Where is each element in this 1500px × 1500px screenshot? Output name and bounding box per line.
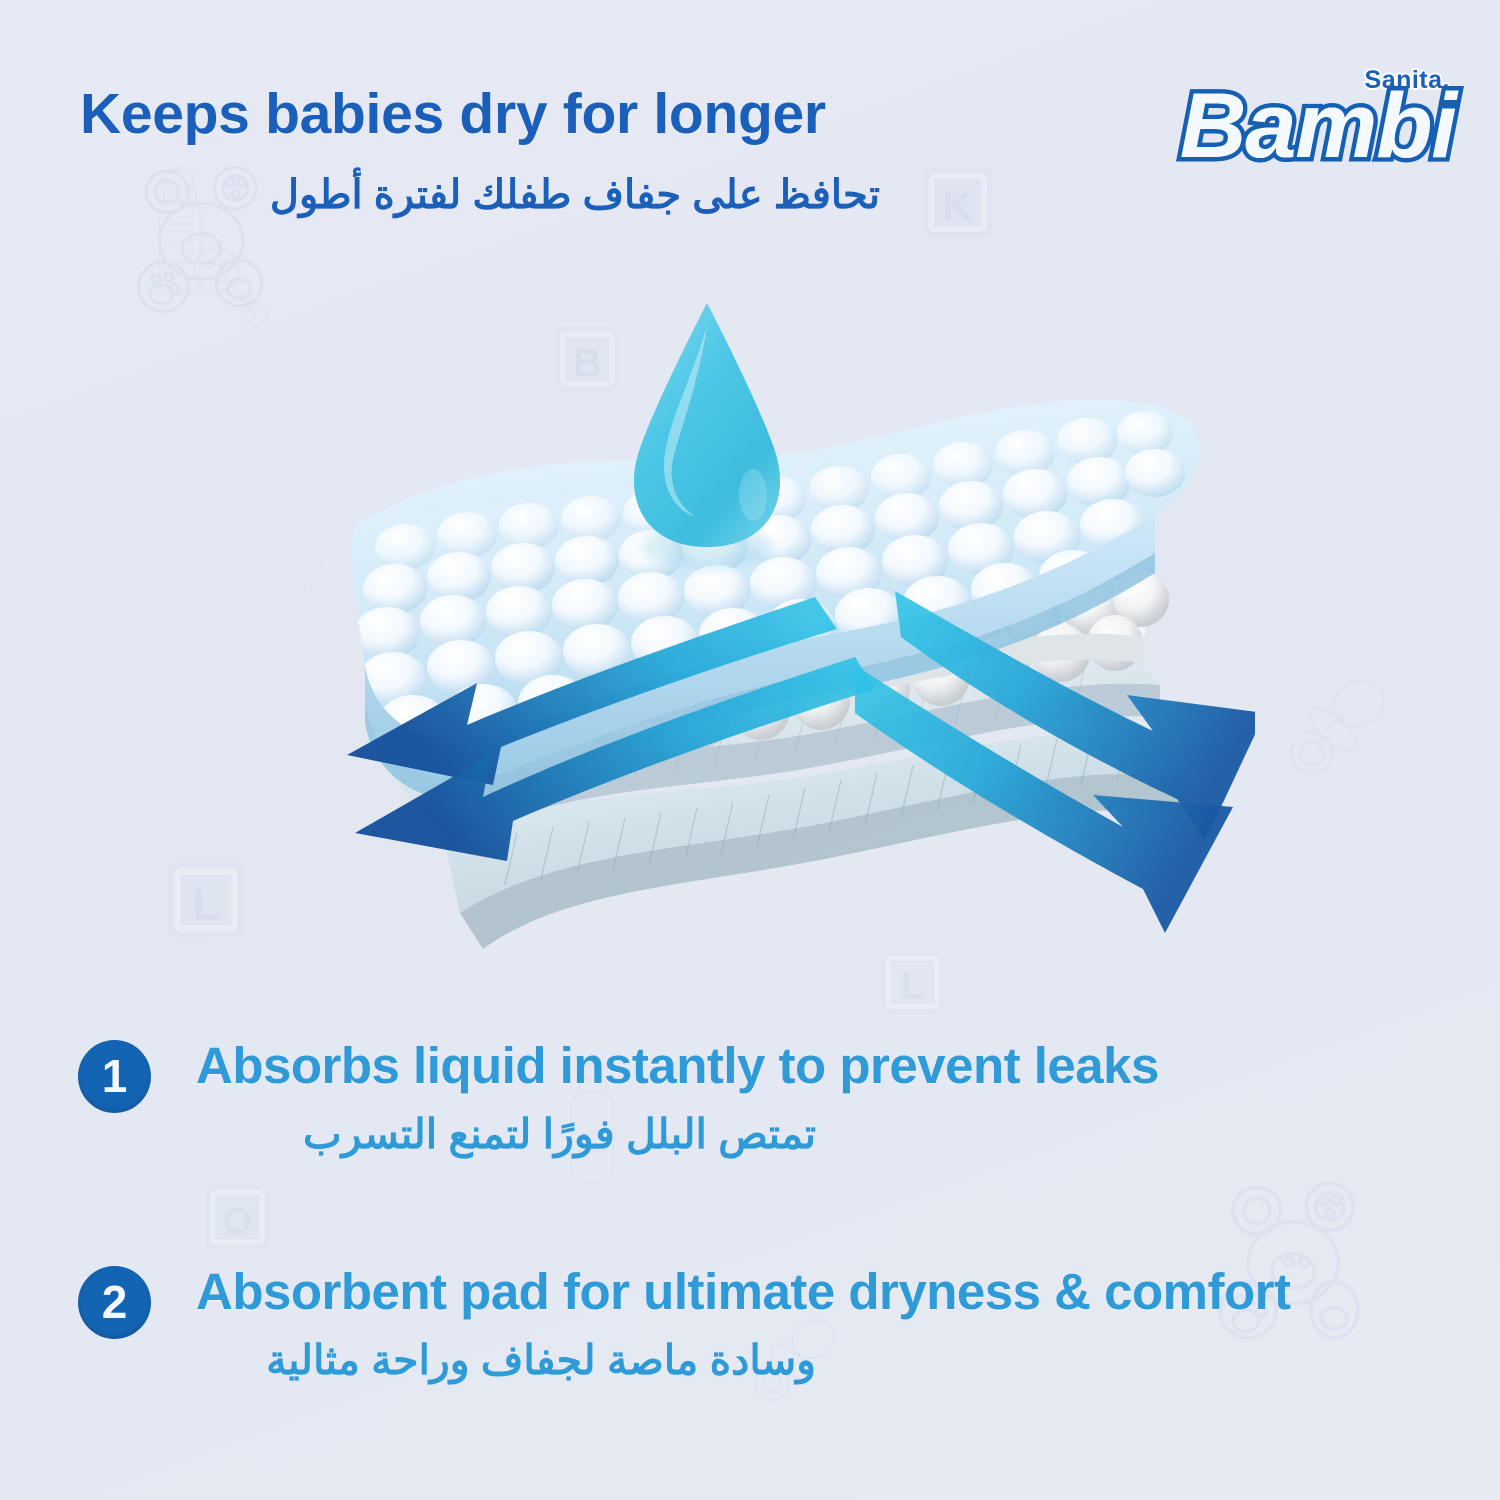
water-droplet	[634, 303, 780, 569]
feature-text-en: Absorbs liquid instantly to prevent leak…	[196, 1036, 1159, 1095]
pacifier-watermark	[1278, 662, 1408, 792]
svg-text:K: K	[943, 183, 973, 230]
feature-text-en: Absorbent pad for ultimate dryness & com…	[196, 1262, 1290, 1321]
diaper-cross-section-illustration	[255, 285, 1255, 1015]
feature-list: 1 Absorbs liquid instantly to prevent le…	[0, 1018, 1500, 1470]
feature-number: 1	[102, 1053, 128, 1099]
feature-number: 2	[102, 1279, 128, 1325]
page-title-arabic: تحافظ على جفاف طفلك لفترة أطول	[80, 172, 880, 218]
svg-text:L: L	[192, 878, 219, 929]
letter-block-k-watermark: K	[913, 158, 1008, 253]
list-item: 1 Absorbs liquid instantly to prevent le…	[0, 1018, 1500, 1218]
feature-number-badge: 1	[78, 1040, 151, 1113]
feature-text-ar: وسادة ماصة لجفاف وراحة مثالية	[196, 1336, 816, 1384]
brand-name-fill: Bambi	[1180, 80, 1456, 172]
feature-number-badge: 2	[78, 1266, 151, 1339]
letter-block-l-watermark: L	[158, 852, 260, 954]
brand-logo: Sanita. Bambi Bambi	[1108, 58, 1458, 178]
infographic-root: K B L L	[0, 0, 1500, 1500]
list-item: 2 Absorbent pad for ultimate dryness & c…	[0, 1244, 1500, 1444]
page-title: Keeps babies dry for longer	[80, 86, 826, 143]
feature-text-ar: تمتص البلل فورًا لتمنع التسرب	[196, 1110, 816, 1158]
